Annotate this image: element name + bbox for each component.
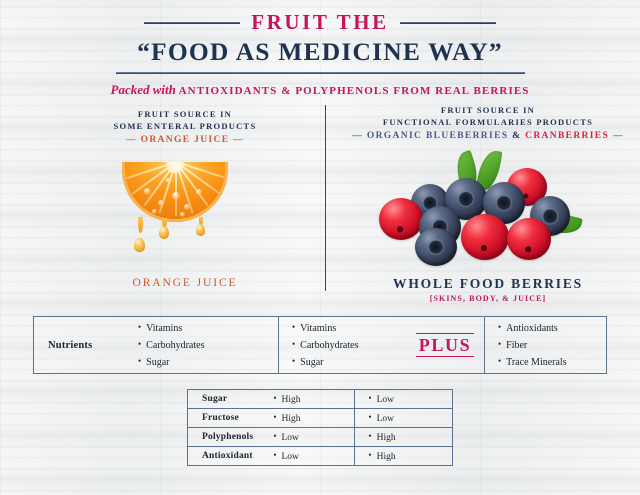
header: FRUIT THE “FOOD AS MEDICINE WAY” Packed … xyxy=(0,10,640,98)
row-value-orange-juice: •High xyxy=(273,390,355,409)
row-value-berries: •Low xyxy=(355,390,453,409)
orange-segment-line xyxy=(175,162,208,206)
right-head-line2: FUNCTIONAL FORMULARIES PRODUCTS xyxy=(340,116,636,128)
orange-segment-line xyxy=(176,162,228,179)
orange-juice-droplet xyxy=(134,238,145,252)
plus-badge-cell: PLUS xyxy=(406,317,484,373)
cranberry xyxy=(461,214,509,260)
row-value-label: High xyxy=(377,452,396,462)
tagline-caps: ANTIOXIDANTS & POLYPHENOLS FROM REAL BER… xyxy=(179,85,530,97)
row-value-label: High xyxy=(377,433,396,443)
right-head-line3: — ORGANIC BLUEBERRIES & CRANBERRIES — xyxy=(340,130,636,143)
head-ampersand: & xyxy=(512,131,521,141)
infographic-poster: FRUIT THE “FOOD AS MEDICINE WAY” Packed … xyxy=(0,0,640,495)
left-column-heading: FRUIT SOURCE IN SOME ENTERAL PRODUCTS — … xyxy=(60,108,310,147)
row-value-label: High xyxy=(282,395,301,405)
bullet-icon: • xyxy=(273,431,276,441)
list-item-label: Carbohydrates xyxy=(146,340,204,351)
tagline: Packed with ANTIOXIDANTS & POLYPHENOLS F… xyxy=(0,82,640,98)
table-row: Antioxidant •Low •High xyxy=(188,447,453,466)
head-cranberries: CRANBERRIES xyxy=(525,131,609,141)
bullet-icon: • xyxy=(138,322,141,332)
row-value-label: High xyxy=(282,414,301,424)
orange-juice-drip xyxy=(138,217,143,233)
table-row: Sugar •High •Low xyxy=(188,390,453,409)
row-value-label: Low xyxy=(282,452,299,462)
row-value-label: Low xyxy=(282,433,299,443)
list-item-label: Vitamins xyxy=(300,323,336,334)
orange-segment-line xyxy=(124,162,176,179)
list-item: •Fiber xyxy=(498,339,604,351)
berries-caption-block: WHOLE FOOD BERRIES [SKINS, BODY, & JUICE… xyxy=(340,276,636,303)
orange-segment-line xyxy=(175,162,193,214)
berries-caption-sub: [SKINS, BODY, & JUICE] xyxy=(340,294,636,303)
row-value-berries: •Low xyxy=(355,409,453,428)
list-item: •Antioxidants xyxy=(498,322,604,334)
list-item-label: Fiber xyxy=(506,340,527,351)
row-name: Polyphenols xyxy=(188,428,274,447)
orange-segment-line xyxy=(175,162,177,216)
list-item: •Vitamins xyxy=(138,322,278,334)
orange-juice-droplet xyxy=(159,226,169,239)
header-divider-rule xyxy=(116,72,525,74)
head-blueberries: ORGANIC BLUEBERRIES xyxy=(367,131,509,141)
list-item: •Vitamins xyxy=(292,322,406,334)
bullet-icon: • xyxy=(368,450,371,460)
orange-vesicle xyxy=(166,178,171,183)
blueberry xyxy=(415,228,457,266)
bullet-icon: • xyxy=(498,356,501,366)
orange-segment-line xyxy=(158,162,176,214)
right-column-heading: FRUIT SOURCE IN FUNCTIONAL FORMULARIES P… xyxy=(340,104,636,143)
list-item-label: Sugar xyxy=(300,357,323,368)
orange-juice-caption: ORANGE JUICE xyxy=(60,277,310,289)
list-item-label: Trace Minerals xyxy=(506,357,566,368)
row-name: Fructose xyxy=(188,409,274,428)
left-head-line1: FRUIT SOURCE IN xyxy=(60,108,310,120)
orange-slice-body xyxy=(122,162,228,222)
orange-pith xyxy=(167,162,184,173)
head-dash-right: — xyxy=(613,131,624,141)
right-head-line1: FRUIT SOURCE IN xyxy=(340,104,636,116)
bullet-icon: • xyxy=(498,322,501,332)
list-item: •Sugar xyxy=(292,356,406,368)
bullet-icon: • xyxy=(292,322,295,332)
page-title: FRUIT THE xyxy=(251,10,389,35)
page-subtitle: “FOOD AS MEDICINE WAY” xyxy=(0,37,640,67)
row-name: Antioxidant xyxy=(188,447,274,466)
bullet-icon: • xyxy=(368,412,371,422)
bullet-icon: • xyxy=(138,356,141,366)
tagline-italic: Packed with xyxy=(111,82,176,97)
row-value-orange-juice: •High xyxy=(273,409,355,428)
orange-slice-image xyxy=(122,162,228,272)
orange-segment-line xyxy=(132,162,177,194)
orange-vesicle xyxy=(196,189,202,195)
row-value-label: Low xyxy=(377,414,394,424)
orange-vesicle xyxy=(158,200,164,206)
head-dash-left: — xyxy=(352,131,363,141)
list-item: •Carbohydrates xyxy=(292,339,406,351)
bullet-icon: • xyxy=(273,393,276,403)
row-value-berries: •High xyxy=(355,447,453,466)
orange-vesicle xyxy=(144,188,151,195)
table-row: Fructose •High •Low xyxy=(188,409,453,428)
title-rule-left xyxy=(144,22,240,24)
nutrients-list-berries-extra: •Antioxidants •Fiber •Trace Minerals xyxy=(484,317,604,373)
bullet-icon: • xyxy=(273,450,276,460)
title-row: FRUIT THE xyxy=(0,10,640,35)
list-item-label: Carbohydrates xyxy=(300,340,358,351)
bullet-icon: • xyxy=(498,339,501,349)
berries-image xyxy=(375,152,605,268)
row-value-orange-juice: •Low xyxy=(273,447,355,466)
row-value-berries: •High xyxy=(355,428,453,447)
row-name: Sugar xyxy=(188,390,274,409)
orange-juice-droplet xyxy=(196,224,205,236)
orange-segment-line xyxy=(175,162,220,194)
nutrients-row-label: Nutrients xyxy=(34,317,138,373)
bullet-icon: • xyxy=(292,339,295,349)
nutrients-panel: Nutrients •Vitamins •Carbohydrates •Suga… xyxy=(33,316,607,374)
table-row: Polyphenols •Low •High xyxy=(188,428,453,447)
comparison-table: Sugar •High •Low Fructose •High •Low Pol… xyxy=(187,389,453,466)
row-value-label: Low xyxy=(377,395,394,405)
left-head-line2: SOME ENTERAL PRODUCTS xyxy=(60,120,310,132)
nutrients-list-berries-base: •Vitamins •Carbohydrates •Sugar xyxy=(278,317,406,373)
bullet-icon: • xyxy=(368,431,371,441)
bullet-icon: • xyxy=(273,412,276,422)
list-item-label: Antioxidants xyxy=(506,323,558,334)
bullet-icon: • xyxy=(292,356,295,366)
cranberry xyxy=(379,198,423,240)
list-item: •Sugar xyxy=(138,356,278,368)
orange-vesicle xyxy=(184,204,190,210)
orange-vesicle xyxy=(180,212,185,217)
cranberry xyxy=(507,218,551,260)
orange-segment-line xyxy=(143,162,176,206)
row-value-orange-juice: •Low xyxy=(273,428,355,447)
column-divider xyxy=(325,105,326,291)
list-item-label: Vitamins xyxy=(146,323,182,334)
berries-caption: WHOLE FOOD BERRIES xyxy=(340,276,636,292)
orange-vesicle xyxy=(152,209,157,214)
list-item-label: Sugar xyxy=(146,357,169,368)
title-rule-right xyxy=(400,22,496,24)
left-head-line3: — ORANGE JUICE — xyxy=(60,134,310,147)
nutrients-list-orange-juice: •Vitamins •Carbohydrates •Sugar xyxy=(138,317,278,373)
bullet-icon: • xyxy=(138,339,141,349)
list-item: •Trace Minerals xyxy=(498,356,604,368)
list-item: •Carbohydrates xyxy=(138,339,278,351)
plus-badge: PLUS xyxy=(416,333,474,357)
orange-vesicle xyxy=(172,192,180,200)
bullet-icon: • xyxy=(368,393,371,403)
